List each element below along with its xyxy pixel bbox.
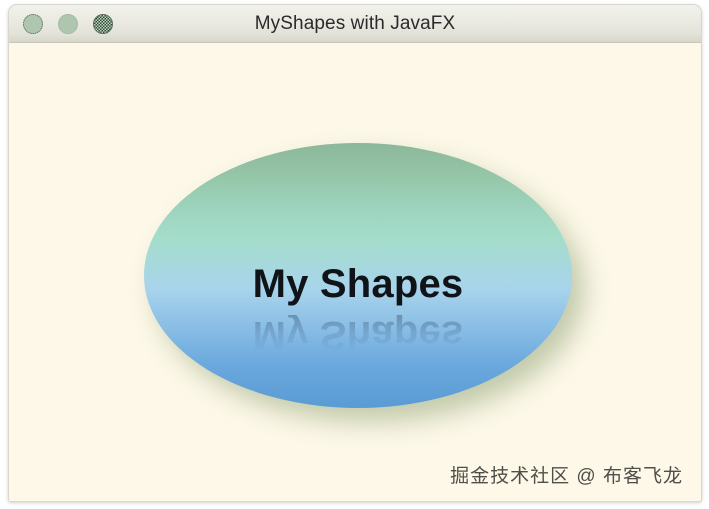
title-bar[interactable]: MyShapes with JavaFX — [9, 5, 701, 43]
zoom-button-icon[interactable] — [93, 14, 113, 34]
shape-label: My Shapes — [144, 264, 572, 304]
shape-stage: My Shapes My Shapes — [144, 143, 572, 408]
watermark-text: 掘金技术社区 @ 布客飞龙 — [450, 461, 683, 488]
content-pane: My Shapes My Shapes 掘金技术社区 @ 布客飞龙 — [9, 43, 701, 502]
shape-label-reflection: My Shapes — [144, 315, 572, 355]
ellipse-shape[interactable]: My Shapes My Shapes — [144, 143, 572, 408]
screen: MyShapes with JavaFX My Shapes My Shapes… — [0, 0, 709, 509]
close-button-icon[interactable] — [23, 14, 43, 34]
window-controls — [23, 5, 113, 43]
minimize-button-icon[interactable] — [58, 14, 78, 34]
application-window: MyShapes with JavaFX My Shapes My Shapes… — [8, 4, 702, 502]
